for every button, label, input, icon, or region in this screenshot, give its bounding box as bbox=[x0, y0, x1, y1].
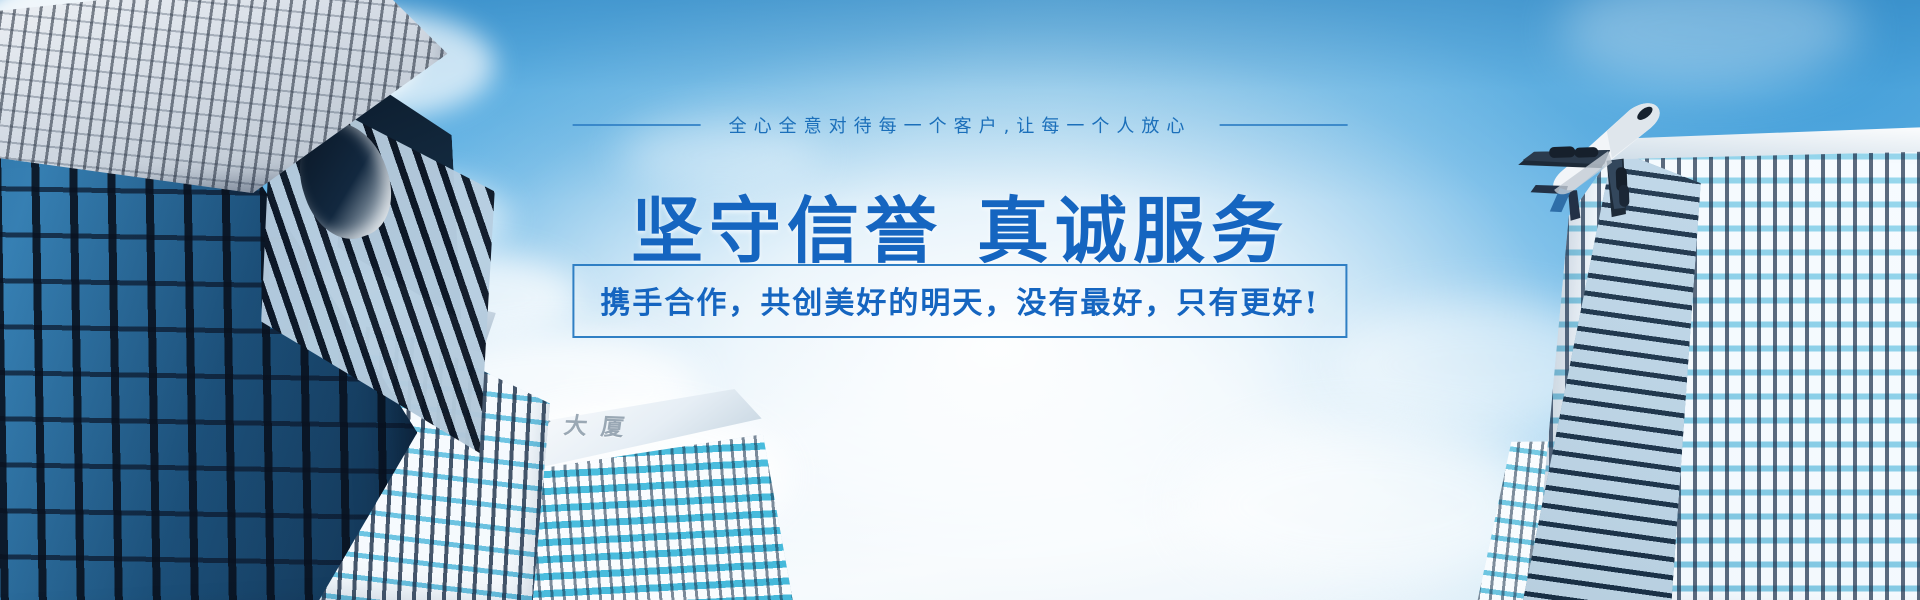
airplane-icon bbox=[1498, 78, 1698, 228]
building-left-main bbox=[0, 0, 546, 600]
cloud bbox=[620, 120, 820, 190]
hero-banner: 联合大厦 bbox=[0, 0, 1920, 600]
